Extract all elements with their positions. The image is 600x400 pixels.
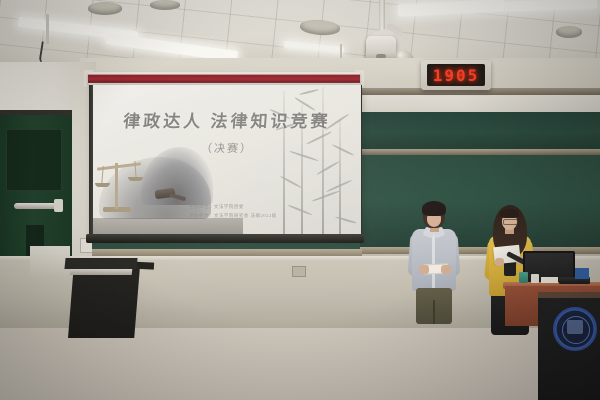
host-hair bbox=[422, 201, 446, 216]
ceiling-rod bbox=[46, 14, 49, 44]
projection-screen: 律政达人 法律知识竞赛 （决赛） 主办单位：文法学院团委 承办单位：文法学院研究… bbox=[93, 85, 361, 237]
slide-subtitle: （决赛） bbox=[93, 140, 361, 156]
green-chalkboard bbox=[360, 155, 600, 247]
slide-organizer-line-1: 主办单位：文法学院团委 bbox=[189, 203, 244, 210]
slide-organizer-line-2: 承办单位：文法学院研究会 法硕2022级 bbox=[189, 212, 277, 219]
ceiling-speaker-icon bbox=[556, 26, 582, 38]
clock-display: 1905 bbox=[427, 64, 485, 86]
host-right-hand bbox=[441, 265, 451, 274]
wall-mounted-box bbox=[30, 246, 70, 276]
glasses-icon bbox=[503, 219, 518, 225]
slide-title: 律政达人 法律知识竞赛 bbox=[93, 107, 361, 132]
host-bangs bbox=[500, 209, 519, 218]
cabinet-top-trim bbox=[538, 292, 600, 298]
green-chalkboard bbox=[360, 112, 600, 149]
scales-post bbox=[115, 163, 118, 209]
blackboard-upper-wall bbox=[360, 95, 600, 112]
ceiling-speaker-icon bbox=[150, 0, 180, 10]
easel-top-bar bbox=[64, 258, 137, 269]
door-upper-panel bbox=[6, 129, 62, 191]
screen-bottom-bar[interactable] bbox=[86, 234, 364, 243]
papers-on-podium bbox=[541, 277, 558, 283]
green-cup bbox=[519, 272, 528, 283]
screen-roller-housing[interactable] bbox=[88, 72, 360, 85]
scales-pan bbox=[128, 177, 143, 181]
wall-outlet bbox=[292, 266, 306, 277]
lecture-hall-photo: 1905 bbox=[0, 0, 600, 400]
easel-cross-bar bbox=[70, 269, 133, 275]
host-left-hand bbox=[419, 265, 429, 274]
scales-pan bbox=[95, 183, 110, 187]
blue-box bbox=[575, 268, 589, 279]
white-cup bbox=[531, 274, 539, 283]
clock-time: 1905 bbox=[433, 66, 480, 85]
host-left-hand bbox=[495, 258, 504, 266]
audience-seating bbox=[0, 300, 600, 400]
door-lock-icon bbox=[54, 199, 63, 212]
shirt-placket bbox=[432, 231, 435, 289]
scales-string bbox=[101, 166, 104, 184]
ceiling-speaker-icon bbox=[88, 2, 122, 15]
